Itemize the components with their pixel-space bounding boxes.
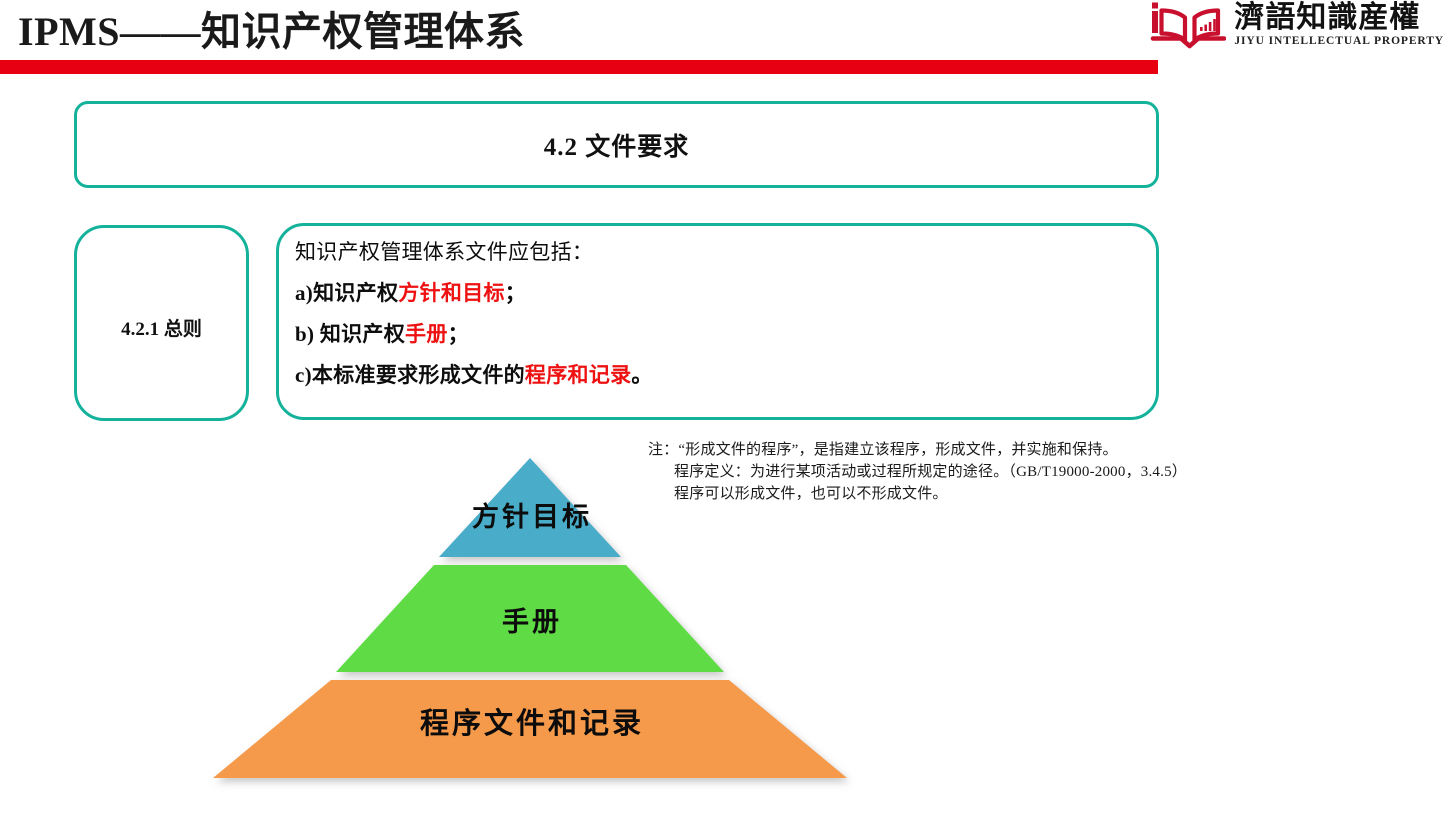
item-b-marker: b) <box>295 322 314 346</box>
item-c-text-before: 本标准要求形成文件的 <box>312 363 525 387</box>
body-lead-line: 知识产权管理体系文件应包括： <box>295 242 1156 263</box>
clause-number-box: 4.2.1 总则 <box>74 225 249 421</box>
header-red-rule <box>0 60 1158 74</box>
document-hierarchy-pyramid: 方针目标 手册 程序文件和记录 <box>196 448 868 792</box>
open-book-bars-logo-icon <box>1148 2 1226 50</box>
pyramid-level-2-label: 手册 <box>196 600 868 639</box>
body-item-c: c)本标准要求形成文件的程序和记录。 <box>295 365 1156 386</box>
item-a-highlight: 方针和目标 <box>398 281 505 305</box>
clause-label: 4.2.1 总则 <box>121 314 202 341</box>
section-title-box: 4.2 文件要求 <box>74 101 1159 188</box>
item-b-highlight: 手册 <box>405 322 448 346</box>
page-title: IPMS——知识产权管理体系 <box>18 12 525 52</box>
item-c-marker: c) <box>295 363 312 387</box>
brand-name-cn: 濟語知識産權 <box>1234 3 1420 34</box>
brand-name-en: JIYU INTELLECTUAL PROPERTY <box>1234 35 1444 49</box>
pyramid-level-1-label: 方针目标 <box>196 495 868 534</box>
clause-content-box: 知识产权管理体系文件应包括： a)知识产权方针和目标； b) 知识产权手册； c… <box>276 223 1159 420</box>
section-title: 4.2 文件要求 <box>544 127 690 163</box>
brand-logo: 濟語知識産權 JIYU INTELLECTUAL PROPERTY <box>1148 2 1444 50</box>
body-item-a: a)知识产权方针和目标； <box>295 283 1156 304</box>
brand-logo-text: 濟語知識産權 JIYU INTELLECTUAL PROPERTY <box>1234 2 1444 48</box>
item-b-text-before: 知识产权 <box>314 322 405 346</box>
item-a-text-after: ； <box>505 281 526 305</box>
item-b-text-after: ； <box>448 322 469 346</box>
item-c-text-after: 。 <box>631 363 652 387</box>
slide-canvas: IPMS——知识产权管理体系 濟語知識産權 J <box>0 0 1450 816</box>
item-a-marker: a) <box>295 281 313 305</box>
item-a-text-before: 知识产权 <box>313 281 398 305</box>
item-c-highlight: 程序和记录 <box>525 363 632 387</box>
pyramid-level-3-label: 程序文件和记录 <box>196 700 868 742</box>
body-item-b: b) 知识产权手册； <box>295 324 1156 345</box>
